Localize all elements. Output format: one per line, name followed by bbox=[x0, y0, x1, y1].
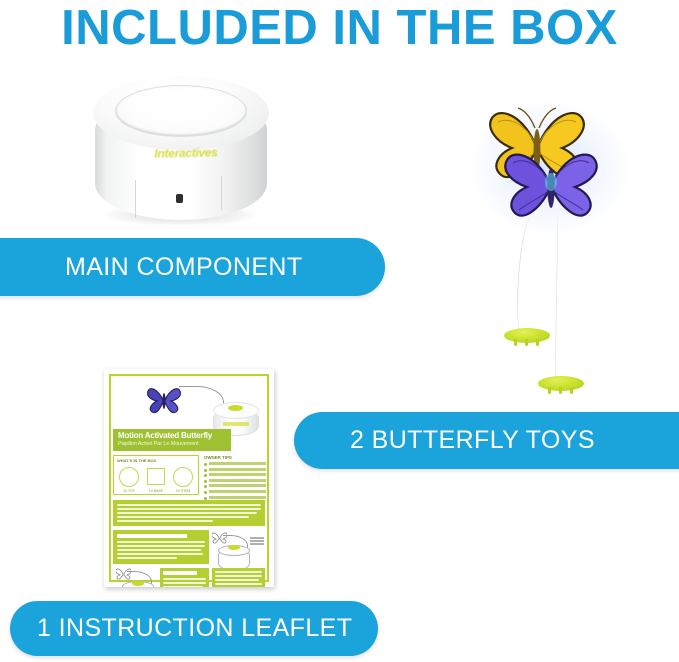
leaflet-diagram-attach bbox=[210, 531, 262, 571]
leaflet-tip-item bbox=[204, 484, 266, 488]
device-seam-left bbox=[135, 180, 136, 218]
leaflet-icon-stem bbox=[173, 467, 193, 487]
butterfly-clip-base-1 bbox=[504, 328, 550, 345]
bullet-dot-icon bbox=[204, 491, 207, 494]
clip-leg bbox=[559, 387, 562, 394]
callout-label: 2 BUTTERFLY TOYS bbox=[350, 426, 595, 455]
leaflet-butterfly-icon bbox=[147, 386, 181, 414]
leaflet-contents-box: WHAT'S IN THE BOX 1X TOY 1X BASE 2X STEM bbox=[113, 455, 199, 495]
diagram-device-clip bbox=[132, 581, 144, 586]
bullet-dot-icon bbox=[204, 485, 207, 488]
device-brand-logo: Interactives bbox=[143, 145, 229, 162]
leaflet-icon-caption: 1X BASE bbox=[145, 489, 167, 493]
butterfly-pair-svg bbox=[460, 96, 640, 246]
leaflet-tip-item bbox=[204, 462, 266, 466]
callout-label: 1 INSTRUCTION LEAFLET bbox=[37, 614, 352, 643]
callout-instruction-leaflet[interactable]: 1 INSTRUCTION LEAFLET bbox=[10, 601, 378, 656]
leaflet-subtitle: Papillon Activé Par Le Mouvement bbox=[118, 441, 199, 447]
bullet-text bbox=[209, 473, 266, 476]
bullet-text bbox=[209, 468, 266, 471]
leaflet-instruction-block bbox=[113, 530, 209, 564]
leaflet-icon-caption: 2X STEM bbox=[172, 489, 194, 493]
leaflet-tip-item bbox=[204, 490, 266, 494]
leaflet-tips-heading: OWNER TIPS bbox=[204, 455, 266, 460]
instruction-leaflet-image: Motion Activated Butterfly Papillon Acti… bbox=[104, 369, 274, 587]
leaflet-titlebar: Motion Activated Butterfly Papillon Acti… bbox=[113, 429, 231, 451]
diagram-device-clip bbox=[228, 545, 240, 550]
clip-leg bbox=[525, 339, 528, 346]
clip-leg bbox=[548, 387, 551, 394]
leaflet-hero-device-clip bbox=[228, 405, 243, 411]
leaflet-icon-toy bbox=[119, 467, 139, 487]
bullet-dot-icon bbox=[204, 469, 207, 472]
leaflet-hero-device-logo bbox=[223, 422, 249, 426]
device-sensor-port bbox=[176, 194, 183, 203]
clip-leg bbox=[514, 339, 517, 346]
bullet-dot-icon bbox=[204, 463, 207, 466]
leaflet-tip-item bbox=[204, 468, 266, 472]
leaflet-tips-list: OWNER TIPS bbox=[204, 455, 266, 501]
leaflet-diagram-place bbox=[114, 567, 166, 587]
device-highlight bbox=[147, 88, 209, 102]
leaflet-contents-label: WHAT'S IN THE BOX bbox=[117, 458, 156, 463]
butterfly-toys-image bbox=[460, 96, 640, 396]
leaflet-icon-base bbox=[147, 468, 165, 485]
bullet-text bbox=[209, 484, 266, 487]
bullet-text bbox=[209, 479, 266, 482]
leaflet-hero-illustration bbox=[113, 378, 265, 430]
callout-label: MAIN COMPONENT bbox=[65, 253, 303, 282]
leaflet-icon-caption: 1X TOY bbox=[118, 489, 140, 493]
leaflet-warning-block bbox=[113, 500, 265, 526]
leaflet-title: Motion Activated Butterfly bbox=[118, 431, 212, 440]
diagram-caption bbox=[250, 537, 264, 547]
leaflet-steps-block-right bbox=[212, 568, 265, 587]
callout-butterfly-toys[interactable]: 2 BUTTERFLY TOYS bbox=[294, 412, 679, 469]
clip-leg bbox=[570, 387, 573, 394]
leaflet-steps-block-left bbox=[160, 568, 209, 587]
bullet-text bbox=[209, 496, 266, 499]
leaflet-tip-item bbox=[204, 473, 266, 477]
clip-leg bbox=[536, 339, 539, 346]
butterfly-clip-base-2 bbox=[538, 376, 584, 393]
leaflet-tip-item bbox=[204, 496, 266, 500]
device-seam-right bbox=[221, 176, 222, 210]
callout-main-component[interactable]: MAIN COMPONENT bbox=[0, 238, 385, 296]
page-title: INCLUDED IN THE BOX bbox=[0, 0, 679, 58]
device-top-surface bbox=[93, 76, 269, 150]
leaflet-tip-item bbox=[204, 479, 266, 483]
bullet-text bbox=[209, 490, 266, 493]
main-component-image: Interactives bbox=[93, 76, 269, 228]
bullet-text bbox=[209, 462, 266, 465]
bullet-dot-icon bbox=[204, 480, 207, 483]
bullet-dot-icon bbox=[204, 474, 207, 477]
